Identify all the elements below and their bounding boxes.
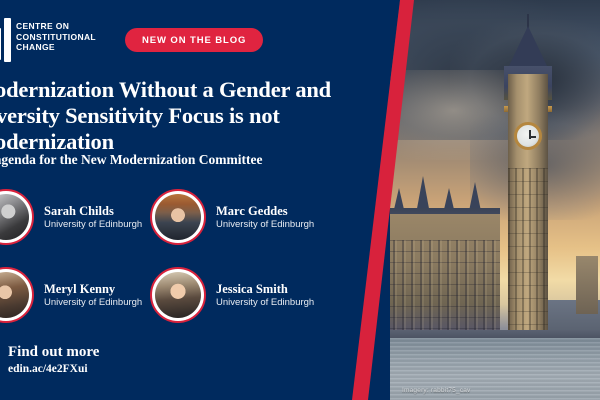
author-row: Sarah Childs University of Edinburgh Mar… [0,178,400,256]
author-affiliation: University of Edinburgh [44,297,142,309]
blog-promo-card: Imagery: rabbit75_cav CENTRE ON CONSTITU… [0,0,600,400]
tower-spire-roof [508,26,548,68]
author-name: Meryl Kenny [44,282,142,296]
list-item[interactable]: Jessica Smith University of Edinburgh [150,267,350,323]
logo-bars-icon [0,18,10,62]
list-item[interactable]: Meryl Kenny University of Edinburgh [0,267,150,323]
logo-line-2: CONSTITUTIONAL [16,32,96,43]
avatar [0,189,34,245]
avatar [150,189,206,245]
logo-wordmark: CENTRE ON CONSTITUTIONAL CHANGE [16,18,96,53]
logo-line-3: CHANGE [16,42,96,53]
list-item[interactable]: Marc Geddes University of Edinburgh [150,189,350,245]
hero-photo: Imagery: rabbit75_cav [390,0,600,400]
cta-url[interactable]: edin.ac/4e2FXui [8,362,99,376]
big-ben-clock-tower [508,74,548,334]
author-affiliation: University of Edinburgh [216,219,314,231]
call-to-action[interactable]: Find out more edin.ac/4e2FXui [8,344,99,376]
ccc-logo[interactable]: CENTRE ON CONSTITUTIONAL CHANGE [0,18,96,62]
author-name: Sarah Childs [44,204,142,218]
author-name: Jessica Smith [216,282,314,296]
author-list: Sarah Childs University of Edinburgh Mar… [0,178,400,334]
list-item[interactable]: Sarah Childs University of Edinburgh [0,189,150,245]
cta-title: Find out more [8,344,99,361]
content-panel: CENTRE ON CONSTITUTIONAL CHANGE NEW ON T… [0,0,420,400]
page-title: Modernization Without a Gender and Diver… [0,77,374,155]
author-row: Meryl Kenny University of Edinburgh Jess… [0,256,400,334]
author-affiliation: University of Edinburgh [216,297,314,309]
avatar [150,267,206,323]
avatar [0,267,34,323]
author-affiliation: University of Edinburgh [44,219,142,231]
new-on-the-blog-badge[interactable]: NEW ON THE BLOG [125,28,263,52]
clock-face [514,122,542,150]
logo-line-1: CENTRE ON [16,21,96,32]
page-subtitle: An agenda for the New Modernization Comm… [0,152,374,168]
far-building [576,256,598,314]
author-name: Marc Geddes [216,204,314,218]
